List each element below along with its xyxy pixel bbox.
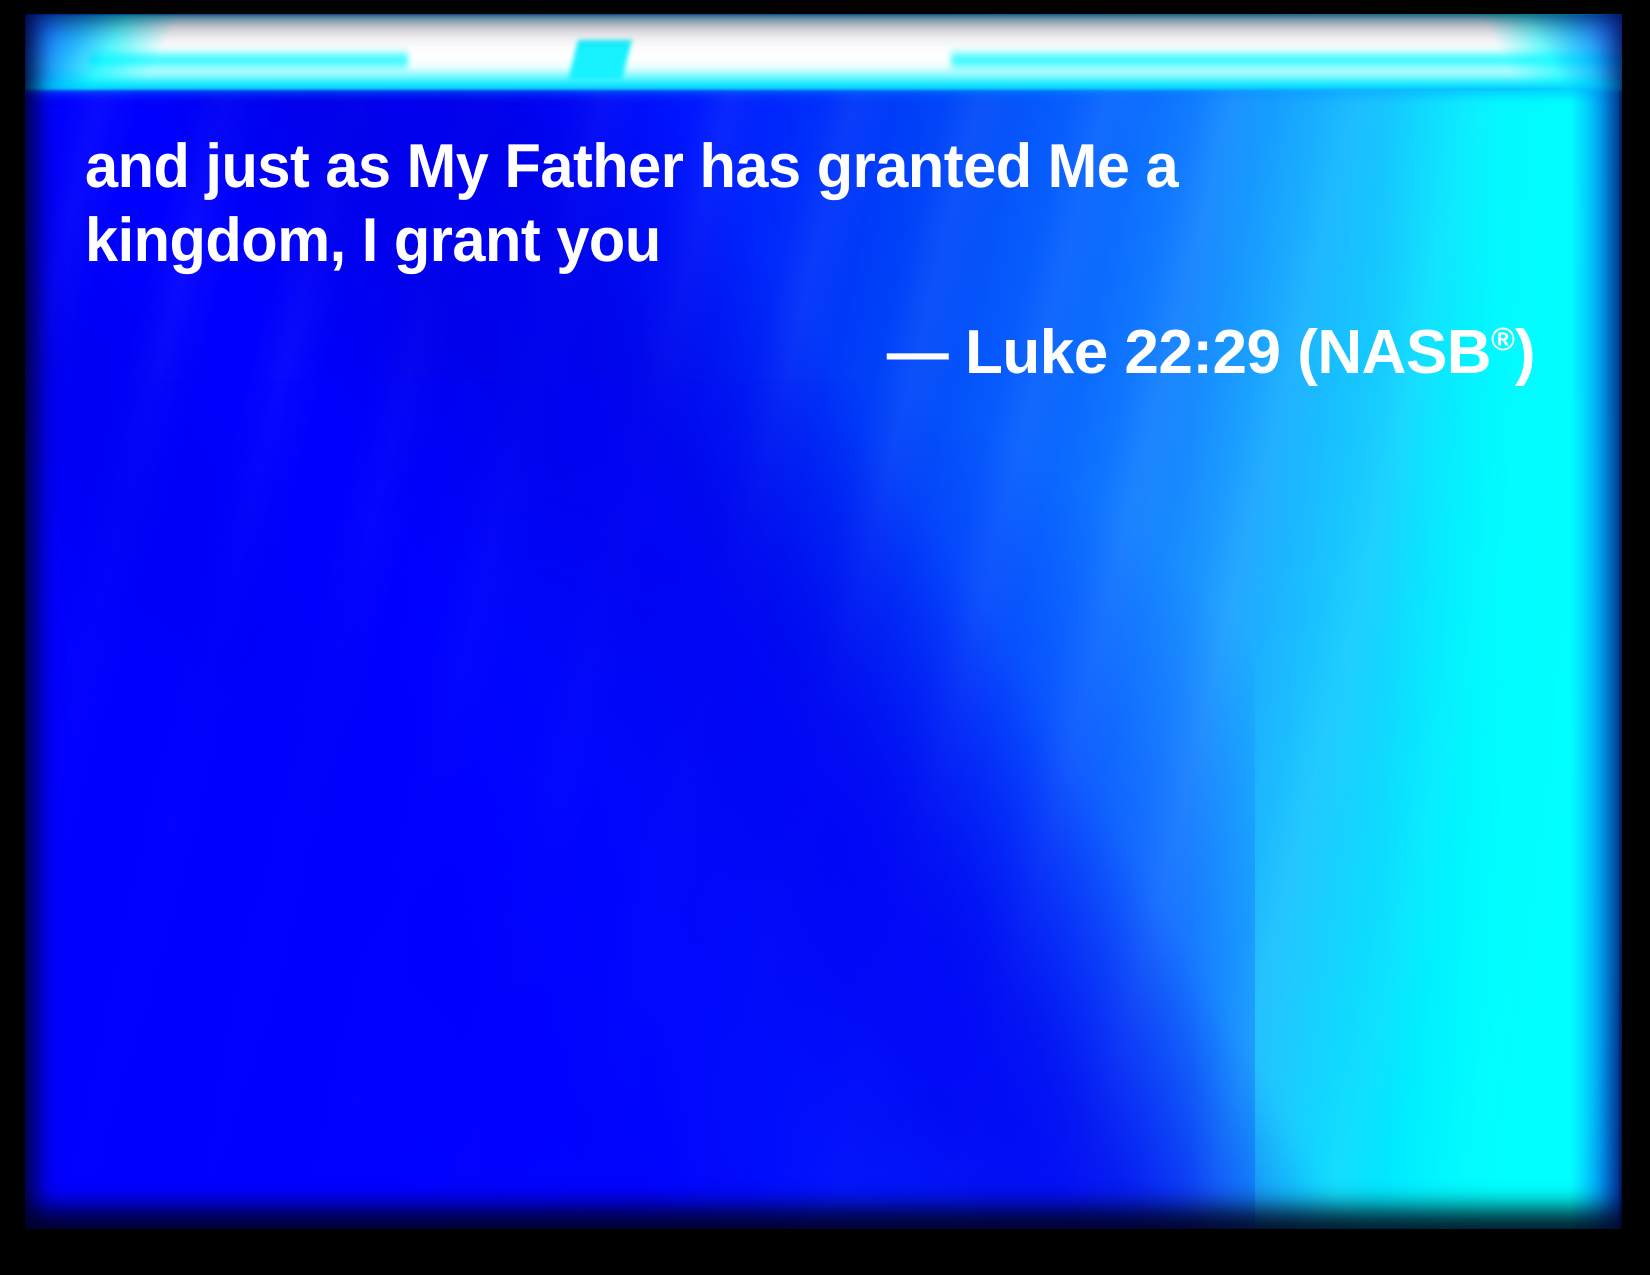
attribution-reference: Luke 22:29 [965, 318, 1281, 387]
slide-background-panel: and just as My Father has granted Me a k… [25, 14, 1622, 1229]
verse-line-1: and just as My Father has granted Me a [85, 130, 1178, 204]
registered-trademark-icon: ® [1491, 321, 1515, 357]
attribution-em-dash: — [887, 318, 949, 387]
verse-line-2: kingdom, I grant you [85, 204, 661, 278]
verse-attribution: — Luke 22:29 (NASB®) [25, 302, 1535, 390]
attribution-translation-open: (NASB [1297, 318, 1491, 387]
verse-text-layer: and just as My Father has granted Me a k… [25, 14, 1622, 1229]
attribution-translation-close: ) [1515, 318, 1535, 387]
verse-slide: and just as My Father has granted Me a k… [0, 0, 1650, 1275]
